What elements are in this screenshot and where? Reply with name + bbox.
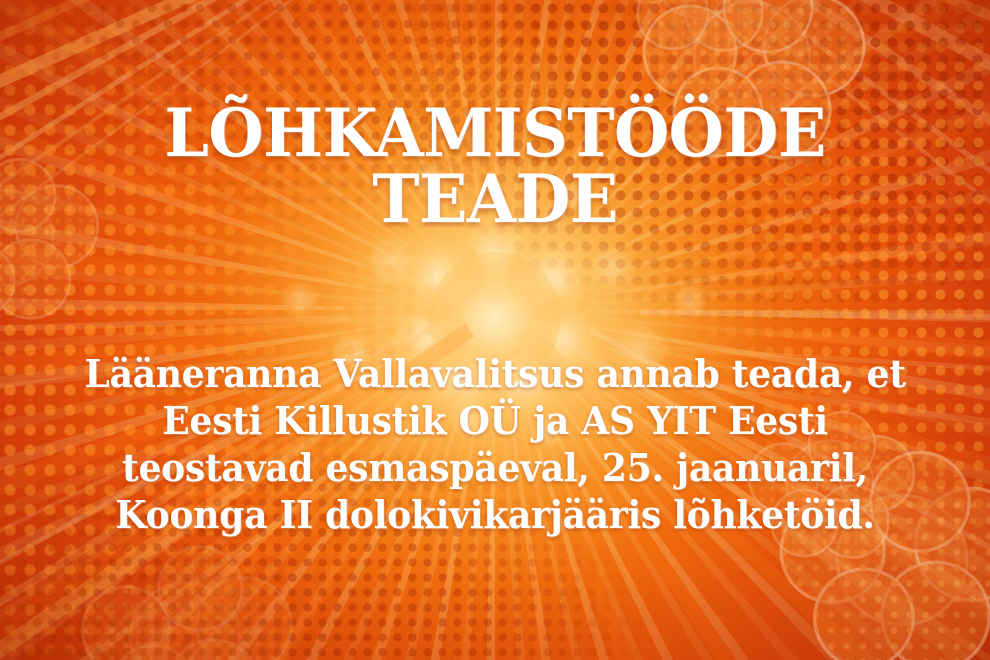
poster-body-text: Lääneranna Vallavalitsus annab teada, et… (0, 350, 990, 538)
body-line-4: Koonga II dolokivikarjääris lõhketöid. (25, 491, 966, 538)
announcement-poster: LÕHKAMISTÖÖDE TEADE Lääneranna Vallavali… (0, 0, 990, 660)
body-line-2: Eesti Killustik OÜ ja AS YIT Eesti (25, 397, 966, 444)
title-line-1: LÕHKAMISTÖÖDE (20, 100, 970, 166)
title-line-2: TEADE (20, 166, 970, 232)
body-line-1: Lääneranna Vallavalitsus annab teada, et (25, 350, 966, 397)
poster-title: LÕHKAMISTÖÖDE TEADE (0, 100, 990, 232)
body-line-3: teostavad esmaspäeval, 25. jaanuaril, (25, 444, 966, 491)
